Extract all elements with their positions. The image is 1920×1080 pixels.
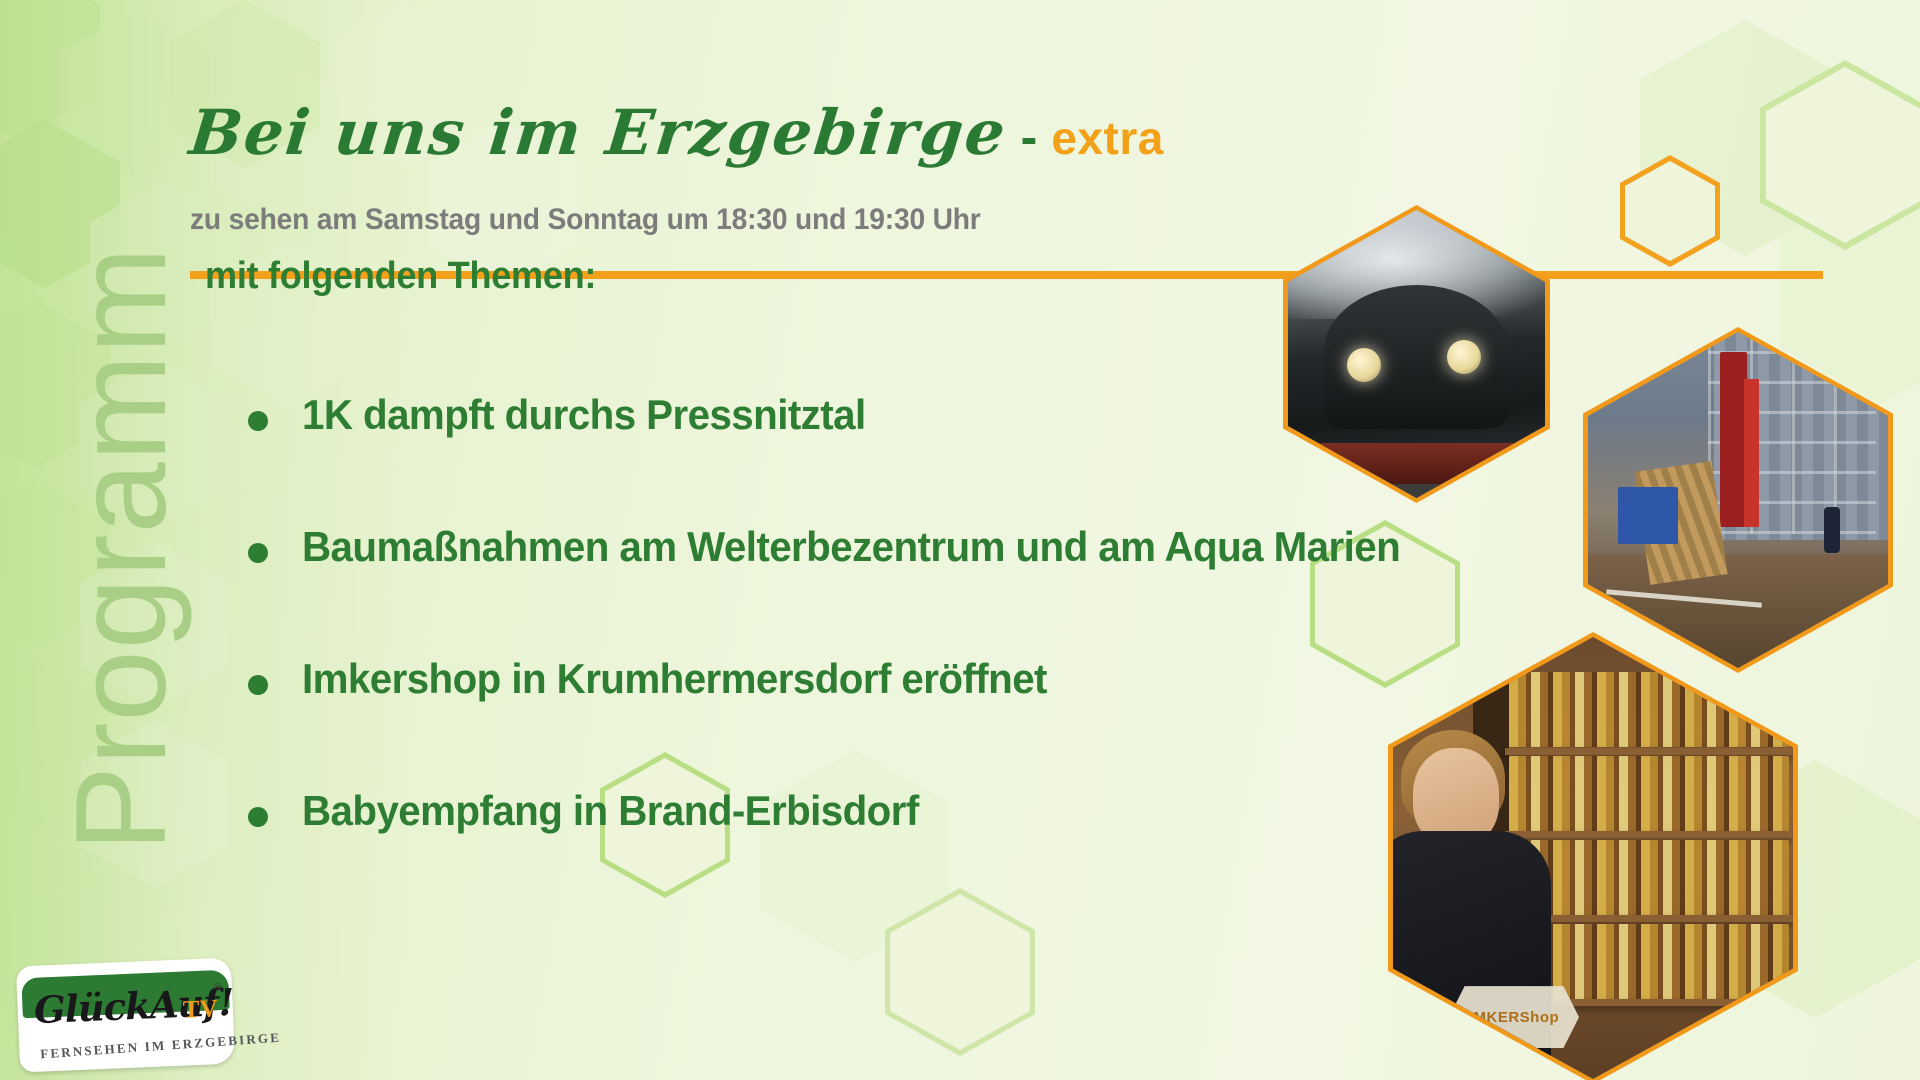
hex-outline-orange [1620,155,1720,267]
construction-site-photo [1583,327,1893,673]
title-main: Bei uns im Erzgebirge [186,96,1010,169]
list-item-label: 1K dampft durchs Pressnitztal [302,393,866,437]
photo-image [1288,210,1545,498]
beekeeper-shop-photo: IMKERShop [1388,632,1798,1080]
bullet-dot-icon [248,411,268,431]
bullet-dot-icon [248,807,268,827]
list-item-label: Imkershop in Krumhermersdorf eröffnet [302,657,1047,701]
photo-image [1588,332,1888,668]
hex-outline [1760,60,1920,250]
logo-registered-mark: ® [214,982,223,994]
logo-tv-label: TV [182,995,218,1024]
broadcast-times-subtitle: zu sehen am Samstag und Sonntag um 18:30… [190,203,981,237]
steam-locomotive-photo [1283,205,1550,503]
bullet-dot-icon [248,543,268,563]
topics-intro: mit folgenden Themen: [205,255,596,298]
page-title: Bei uns im Erzgebirge - extra [190,96,1164,169]
list-item: Baumaßnahmen am Welterbezentrum und am A… [248,525,1508,569]
title-dash: - [1021,108,1038,166]
sidebar-vertical-title: Programm [58,246,186,851]
photo-image: IMKERShop [1393,637,1793,1079]
list-item: Imkershop in Krumhermersdorf eröffnet [248,657,1508,701]
list-item: Babyempfang in Brand-Erbisdorf [248,789,1508,833]
list-item-label: Babyempfang in Brand-Erbisdorf [302,789,919,833]
slide-root: Programm Bei uns im Erzgebirge - extra z… [0,0,1920,1080]
channel-logo: GlückAuf! TV ® FERNSEHEN IM ERZGEBIRGE [18,962,233,1068]
header-block: Bei uns im Erzgebirge - extra [190,96,1164,169]
bullet-dot-icon [248,675,268,695]
title-extra-badge: extra [1051,111,1163,165]
list-item-label: Baumaßnahmen am Welterbezentrum und am A… [302,525,1400,569]
